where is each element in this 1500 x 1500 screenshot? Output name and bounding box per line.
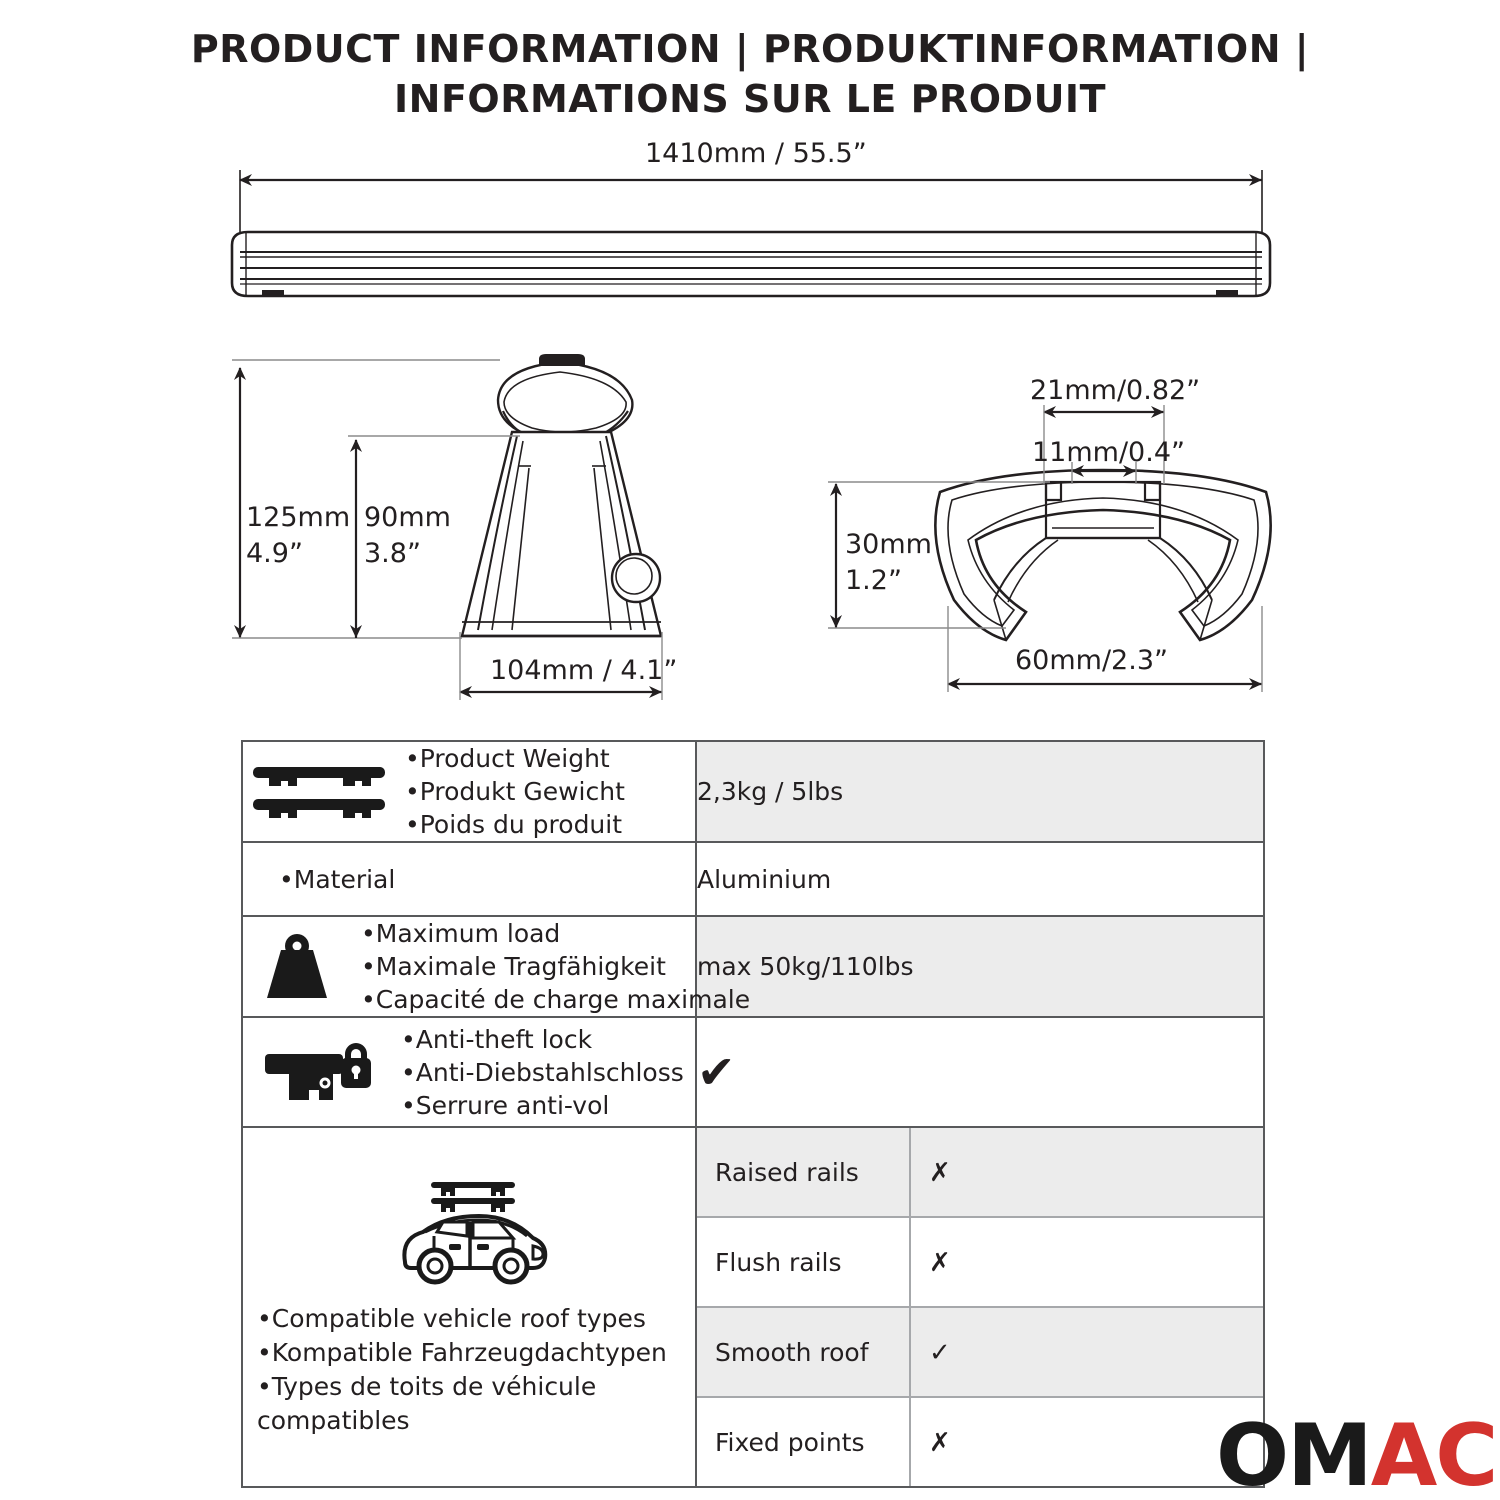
compatibility-bullets: •Compatible vehicle roof types •Kompatib… <box>257 1302 687 1438</box>
roof-type-row: Raised rails ✗ <box>697 1128 1263 1217</box>
table-row: •Maximum load •Maximale Tragfähigkeit •C… <box>242 916 1264 1017</box>
checkmark-icon: ✓ <box>929 1338 951 1368</box>
table-row: •Product Weight •Produkt Gewicht •Poids … <box>242 741 1264 842</box>
logo-text-ac: AC <box>1371 1406 1497 1500</box>
foot-total-height-dimension <box>232 360 500 638</box>
foot-side-view <box>462 354 661 636</box>
roof-types-table: Raised rails ✗ Flush rails ✗ <box>697 1128 1263 1486</box>
material-value: Aluminium <box>696 842 1264 916</box>
omac-logo: OMAC <box>1216 1413 1496 1499</box>
cross-icon: ✗ <box>929 1158 951 1188</box>
product-weight-value: 2,3kg / 5lbs <box>696 741 1264 842</box>
table-row: •Material Aluminium <box>242 842 1264 916</box>
max-load-label-cell: •Maximum load •Maximale Tragfähigkeit •C… <box>242 916 696 1017</box>
table-row: •Anti-theft lock •Anti-Diebstahlschloss … <box>242 1017 1264 1127</box>
anti-theft-value: ✔ <box>696 1017 1264 1127</box>
bar-length-dimension <box>240 170 1262 232</box>
roof-type-row: Fixed points ✗ <box>697 1397 1263 1486</box>
roof-type-support: ✓ <box>910 1307 1263 1397</box>
foot-width-label: 104mm / 4.1” <box>490 655 677 686</box>
foot-inner-height-label: 90mm 3.8” <box>364 500 451 572</box>
checkmark-icon: ✔ <box>697 1045 736 1099</box>
profile-width-label: 60mm/2.3” <box>1015 645 1168 676</box>
product-weight-label-cell: •Product Weight •Produkt Gewicht •Poids … <box>242 741 696 842</box>
roof-type-support: ✗ <box>910 1128 1263 1217</box>
roof-types-cell: Raised rails ✗ Flush rails ✗ <box>696 1127 1264 1487</box>
roof-type-name: Flush rails <box>697 1217 910 1307</box>
roof-type-name: Smooth roof <box>697 1307 910 1397</box>
anti-theft-label-cell: •Anti-theft lock •Anti-Diebstahlschloss … <box>242 1017 696 1127</box>
roof-type-row: Smooth roof ✓ <box>697 1307 1263 1397</box>
bar-profile-cross-section <box>935 470 1270 640</box>
anti-theft-bullets: •Anti-theft lock •Anti-Diebstahlschloss … <box>401 1023 695 1122</box>
roof-bar-side-view <box>232 232 1270 297</box>
profile-inner-slot-label: 11mm/0.4” <box>1032 437 1185 468</box>
profile-outer-slot-label: 21mm/0.82” <box>1030 375 1200 406</box>
roof-type-name: Fixed points <box>697 1397 910 1486</box>
product-information-sheet: PRODUCT INFORMATION | PRODUKTINFORMATION… <box>0 0 1500 1500</box>
max-load-value: max 50kg/110lbs <box>696 916 1264 1017</box>
max-load-bullets: •Maximum load •Maximale Tragfähigkeit •C… <box>361 917 750 1016</box>
roof-type-support: ✗ <box>910 1217 1263 1307</box>
bar-length-label: 1410mm / 55.5” <box>645 138 867 169</box>
crossbars-icon <box>243 761 395 823</box>
cross-icon: ✗ <box>929 1248 951 1278</box>
table-row: •Compatible vehicle roof types •Kompatib… <box>242 1127 1264 1487</box>
roof-type-row: Flush rails ✗ <box>697 1217 1263 1307</box>
cross-icon: ✗ <box>929 1428 951 1458</box>
material-bullets: •Material <box>243 863 695 896</box>
foot-total-height-label: 125mm 4.9” <box>246 500 350 572</box>
compatibility-label-cell: •Compatible vehicle roof types •Kompatib… <box>242 1127 696 1487</box>
weight-icon <box>243 932 351 1002</box>
logo-text-om: OM <box>1216 1406 1371 1500</box>
product-weight-bullets: •Product Weight •Produkt Gewicht •Poids … <box>405 742 695 841</box>
specification-table: •Product Weight •Produkt Gewicht •Poids … <box>241 740 1265 1488</box>
roof-type-support: ✗ <box>910 1397 1263 1486</box>
lock-icon <box>243 1036 391 1108</box>
profile-height-label: 30mm 1.2” <box>845 527 932 599</box>
car-with-rack-icon <box>257 1176 687 1296</box>
roof-type-name: Raised rails <box>697 1128 910 1217</box>
material-label-cell: •Material <box>242 842 696 916</box>
